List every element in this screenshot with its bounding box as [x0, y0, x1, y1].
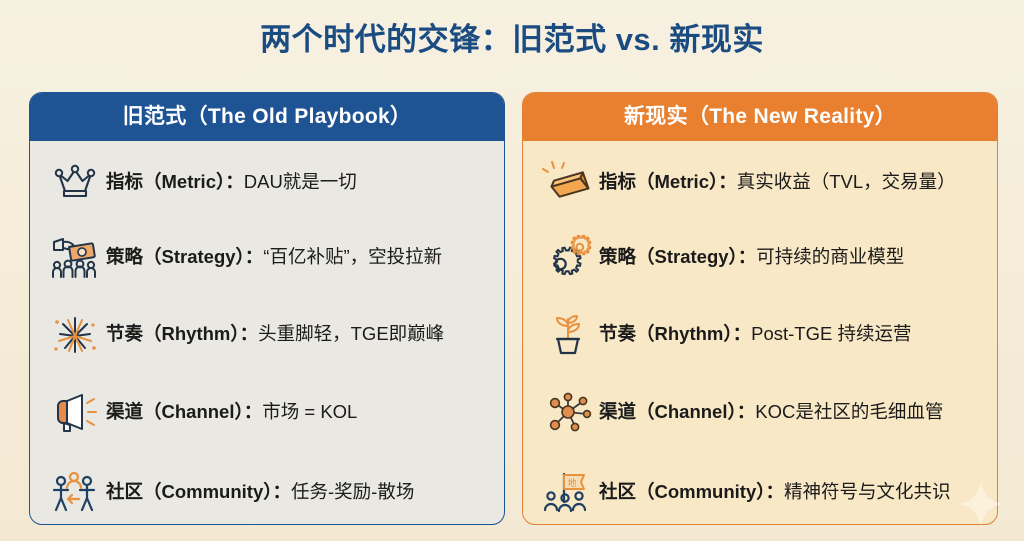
- list-item-value: DAU就是一切: [244, 171, 357, 192]
- list-item-label: 社区（Community）：: [599, 481, 784, 502]
- list-item-text: 策略（Strategy）：可持续的商业模型: [599, 246, 987, 268]
- list-item-text: 节奏（Rhythm）：头重脚轻，TGE即巅峰: [106, 323, 494, 345]
- network-nodes-icon: [537, 384, 599, 440]
- list-item: 节奏（Rhythm）：头重脚轻，TGE即巅峰: [44, 303, 494, 365]
- list-item-value: 任务-奖励-散场: [291, 481, 414, 502]
- hand-money-icon: [44, 229, 106, 285]
- list-item-label: 指标（Metric）：: [599, 171, 737, 192]
- gold-bar-icon: [537, 154, 599, 210]
- old-playbook-panel: 旧范式（The Old Playbook） 指标（Metric）：DAU就是一切: [29, 92, 505, 525]
- list-item-label: 渠道（Channel）：: [599, 401, 755, 422]
- list-item-value: 真实收益（TVL，交易量）: [737, 171, 956, 192]
- old-playbook-body: 指标（Metric）：DAU就是一切: [30, 141, 504, 524]
- list-item-text: 节奏（Rhythm）：Post-TGE 持续运营: [599, 323, 987, 345]
- list-item: 策略（Strategy）：可持续的商业模型: [537, 226, 987, 288]
- list-item-text: 策略（Strategy）：“百亿补贴”，空投拉新: [106, 246, 494, 268]
- list-item-label: 渠道（Channel）：: [106, 401, 262, 422]
- list-item-label: 节奏（Rhythm）：: [106, 323, 258, 344]
- list-item-value: Post-TGE 持续运营: [751, 323, 911, 344]
- list-item-value: 可持续的商业模型: [756, 246, 904, 267]
- fireworks-icon: [44, 306, 106, 362]
- list-item: 渠道（Channel）：市场 = KOL: [44, 381, 494, 443]
- flag-people-icon: 地: [537, 464, 599, 520]
- page-title-text: 两个时代的交锋：旧范式 vs. 新现实: [260, 14, 764, 59]
- page-title: 两个时代的交锋：旧范式 vs. 新现实: [0, 14, 1024, 59]
- new-reality-panel: 新现实（The New Reality） 指标（Met: [522, 92, 998, 525]
- list-item-label: 指标（Metric）：: [106, 171, 244, 192]
- list-item-text: 指标（Metric）：DAU就是一切: [106, 171, 494, 193]
- new-reality-body: 指标（Metric）：真实收益（TVL，交易量）: [523, 141, 997, 524]
- megaphone-icon: [44, 384, 106, 440]
- list-item: 地 社区（Community）：精神符号与文化共识: [537, 461, 987, 523]
- list-item: 节奏（Rhythm）：Post-TGE 持续运营: [537, 303, 987, 365]
- list-item-text: 渠道（Channel）：KOC是社区的毛细血管: [599, 401, 987, 423]
- list-item: 指标（Metric）：DAU就是一切: [44, 151, 494, 213]
- slide-canvas: 两个时代的交锋：旧范式 vs. 新现实 旧范式（The Old Playbook…: [0, 0, 1024, 541]
- list-item-label: 策略（Strategy）：: [106, 246, 263, 267]
- list-item: 社区（Community）：任务-奖励-散场: [44, 461, 494, 523]
- gears-icon: [537, 229, 599, 285]
- list-item-value: KOC是社区的毛细血管: [755, 401, 943, 422]
- people-leaving-icon: [44, 464, 106, 520]
- list-item-text: 指标（Metric）：真实收益（TVL，交易量）: [599, 171, 987, 193]
- list-item-label: 社区（Community）：: [106, 481, 291, 502]
- list-item-value: 市场 = KOL: [262, 401, 357, 422]
- list-item-label: 策略（Strategy）：: [599, 246, 756, 267]
- list-item-value: “百亿补贴”，空投拉新: [263, 246, 442, 267]
- list-item-label: 节奏（Rhythm）：: [599, 323, 751, 344]
- list-item-value: 头重脚轻，TGE即巅峰: [258, 323, 444, 344]
- crown-icon: [44, 154, 106, 210]
- old-playbook-header: 旧范式（The Old Playbook）: [30, 93, 504, 141]
- list-item: 指标（Metric）：真实收益（TVL，交易量）: [537, 151, 987, 213]
- list-item-text: 社区（Community）：任务-奖励-散场: [106, 481, 494, 503]
- svg-text:地: 地: [567, 477, 576, 488]
- list-item-value: 精神符号与文化共识: [784, 481, 951, 502]
- list-item: 策略（Strategy）：“百亿补贴”，空投拉新: [44, 226, 494, 288]
- list-item-text: 渠道（Channel）：市场 = KOL: [106, 401, 494, 423]
- list-item: 渠道（Channel）：KOC是社区的毛细血管: [537, 381, 987, 443]
- list-item-text: 社区（Community）：精神符号与文化共识: [599, 481, 987, 503]
- new-reality-header: 新现实（The New Reality）: [523, 93, 997, 141]
- seedling-pot-icon: [537, 306, 599, 362]
